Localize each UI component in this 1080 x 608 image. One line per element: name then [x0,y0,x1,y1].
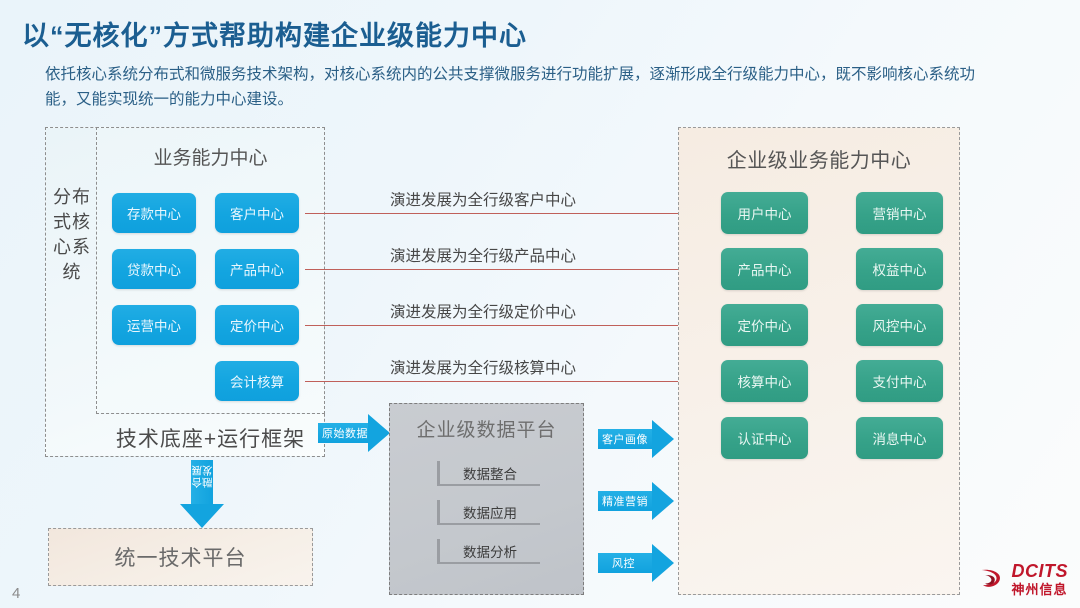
data-platform-title: 企业级数据平台 [389,415,584,442]
evolve-label-product: 演进发展为全行级产品中心 [390,244,576,266]
data-platform-item-analysis[interactable]: 数据分析 [437,539,540,564]
green-box-risk[interactable]: 风控中心 [856,304,943,346]
output-arrow-risk-control: 风控 [598,544,676,582]
blue-box-pricing[interactable]: 定价中心 [215,305,299,345]
data-platform-item-application[interactable]: 数据应用 [437,500,540,525]
green-box-auth[interactable]: 认证中心 [721,417,808,459]
distributed-core-label: 分布式核心系统 [52,185,92,285]
green-box-rights[interactable]: 权益中心 [856,248,943,290]
blue-box-accounting[interactable]: 会计核算 [215,361,299,401]
raw-data-arrow-head [368,414,390,452]
raw-data-arrow: 原始数据 [318,414,390,452]
unified-tech-platform: 统一技术平台 [48,528,313,586]
green-box-pricing[interactable]: 定价中心 [721,304,808,346]
dcits-logo-icon [977,564,1007,594]
evolve-label-accounting: 演进发展为全行级核算中心 [390,356,576,378]
blue-box-deposit[interactable]: 存款中心 [112,193,196,233]
tech-base-bar: 技术底座+运行框架 [96,418,325,458]
slide-root: 以“无核化”方式帮助构建企业级能力中心 依托核心系统分布式和微服务技术架构，对核… [0,0,1080,608]
fusion-arrow-label: 融合发展 [190,464,214,488]
output-arrow-precision-marketing: 精准营销 [598,482,676,520]
business-capability-title: 业务能力中心 [96,143,325,170]
green-box-message[interactable]: 消息中心 [856,417,943,459]
green-box-accounting[interactable]: 核算中心 [721,360,808,402]
green-box-product[interactable]: 产品中心 [721,248,808,290]
output-arrow-head-2 [652,482,674,520]
blue-box-operation[interactable]: 运营中心 [112,305,196,345]
page-number: 4 [12,585,20,602]
data-platform-item-integration[interactable]: 数据整合 [437,461,540,486]
output-arrow-customer-profile: 客户画像 [598,420,676,458]
brand-logo: DCITS 神州信息 [977,562,1069,596]
raw-data-arrow-label: 原始数据 [322,425,368,441]
evolve-label-pricing: 演进发展为全行级定价中心 [390,300,576,322]
green-box-payment[interactable]: 支付中心 [856,360,943,402]
output-arrow-head-3 [652,544,674,582]
blue-box-customer[interactable]: 客户中心 [215,193,299,233]
green-box-marketing[interactable]: 营销中心 [856,192,943,234]
evolve-label-customer: 演进发展为全行级客户中心 [390,188,576,210]
red-arrow-line-2 [305,269,713,270]
logo-en: DCITS [1012,562,1069,580]
blue-box-loan[interactable]: 贷款中心 [112,249,196,289]
output-arrow-label-3: 风控 [612,555,635,571]
red-arrow-line-4 [305,381,713,382]
output-arrow-label-2: 精准营销 [602,493,648,509]
fusion-arrow-head [180,504,224,528]
green-box-user[interactable]: 用户中心 [721,192,808,234]
page-subtitle: 依托核心系统分布式和微服务技术架构，对核心系统内的公共支撑微服务进行功能扩展，逐… [45,62,995,112]
red-arrow-line-3 [305,325,713,326]
fusion-arrow: 融合发展 [180,460,224,528]
enterprise-capability-title: 企业级业务能力中心 [678,144,960,173]
red-arrow-line-1 [305,213,713,214]
logo-text: DCITS 神州信息 [1012,562,1069,596]
output-arrow-label-1: 客户画像 [602,431,648,447]
blue-box-product[interactable]: 产品中心 [215,249,299,289]
page-title: 以“无核化”方式帮助构建企业级能力中心 [22,14,527,53]
output-arrow-head-1 [652,420,674,458]
logo-cn: 神州信息 [1012,583,1069,596]
